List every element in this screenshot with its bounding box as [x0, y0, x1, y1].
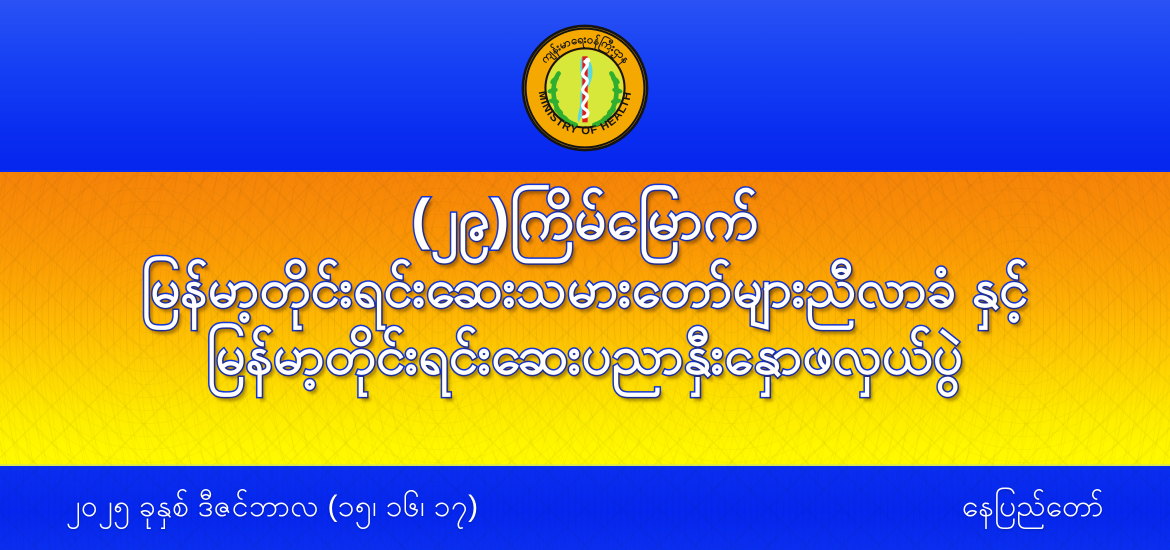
headline-block: (၂၉)ကြိမ်မြောက် မြန်မာ့တိုင်းရင်းဆေးသမား… [0, 176, 1170, 383]
event-banner: ကျန်းမာရေးဝန်ကြီးဌာန MINISTRY OF HEALTH … [0, 0, 1170, 550]
footer-bar: ၂၀၂၅ ခုနှစ် ဒီဇင်ဘာလ (၁၅၊ ၁၆၊ ၁၇) နေပြည်… [0, 466, 1170, 550]
headline-line-2: မြန်မာ့တိုင်းရင်းဆေးသမားတော်များညီလာခံ န… [0, 247, 1170, 316]
headline-line-3: မြန်မာ့တိုင်းရင်းဆေးပညာနှီးနှောဖလှယ်ပွဲ [0, 316, 1170, 383]
divider-top [0, 170, 1170, 172]
ministry-of-health-emblem: ကျန်းမာရေးဝန်ကြီးဌာန MINISTRY OF HEALTH [519, 22, 651, 154]
headline-line-1: (၂၉)ကြိမ်မြောက် [0, 176, 1170, 247]
seal-icon: ကျန်းမာရေးဝန်ကြီးဌာန MINISTRY OF HEALTH [519, 22, 651, 154]
event-location-text: နေပြည်တော် [962, 486, 1104, 531]
event-date-text: ၂၀၂၅ ခုနှစ် ဒီဇင်ဘာလ (၁၅၊ ၁၆၊ ၁၇) [66, 486, 478, 531]
